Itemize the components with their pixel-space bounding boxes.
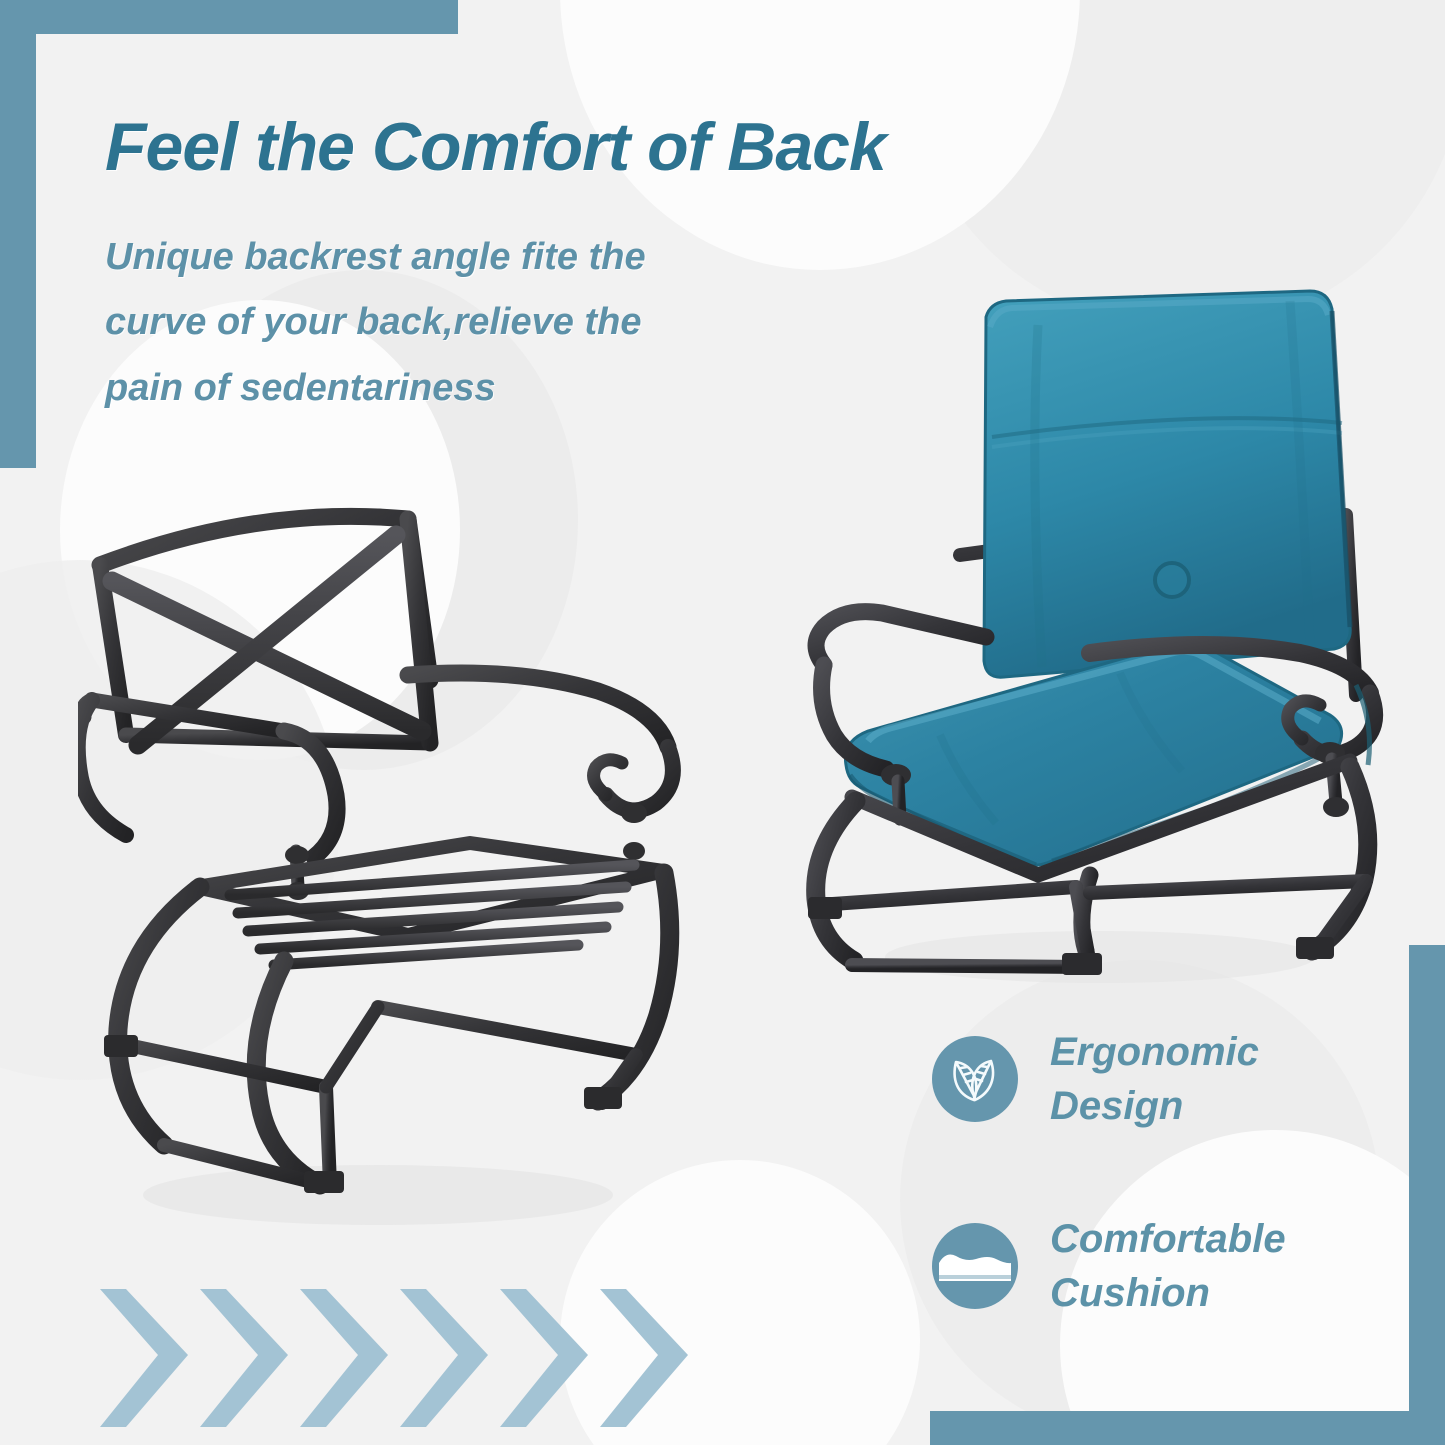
badge-label-line-1: Ergonomic [1050,1025,1259,1079]
corner-bracket-top-left-horizontal [0,0,458,34]
feature-badge-label: Comfortable Cushion [1050,1212,1286,1320]
product-feature-canvas: Feel the Comfort of Back Unique backrest… [0,0,1445,1445]
chevron-arrow-row [92,1283,732,1445]
forward-chevron-icon [592,1283,710,1433]
subcopy-line-2: curve of your back,relieve the [105,290,825,355]
product-image-metal-chair-frame [78,495,698,1255]
product-image-cushioned-chair [790,175,1410,1005]
badge-label-line-2: Cushion [1050,1266,1286,1320]
feature-badge-comfortable-cushion: Comfortable Cushion [932,1212,1286,1320]
corner-bracket-top-left-vertical [0,0,36,468]
cushion-icon [932,1223,1018,1309]
leaf-icon [932,1036,1018,1122]
badge-label-line-1: Comfortable [1050,1212,1286,1266]
page-title: Feel the Comfort of Back [105,108,886,186]
corner-bracket-bottom-right-horizontal [930,1411,1445,1445]
subcopy-block: Unique backrest angle fite the curve of … [105,225,825,421]
badge-label-line-2: Design [1050,1079,1259,1133]
feature-badge-ergonomic-design: Ergonomic Design [932,1025,1259,1133]
subcopy-line-1: Unique backrest angle fite the [105,225,825,290]
corner-bracket-bottom-right-vertical [1409,945,1445,1445]
feature-badge-label: Ergonomic Design [1050,1025,1259,1133]
subcopy-line-3: pain of sedentariness [105,356,825,421]
